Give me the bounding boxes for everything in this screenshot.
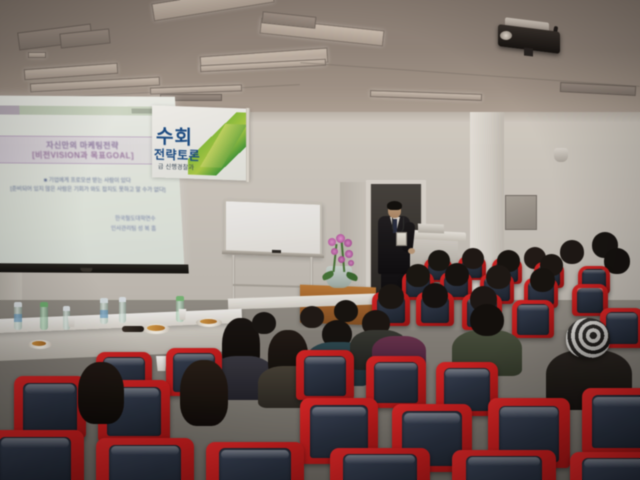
food-item-dark (122, 326, 144, 332)
seat-highlight (111, 446, 180, 456)
seat-highlight (25, 384, 75, 394)
presenter-hair (387, 201, 402, 210)
striped-beanie (566, 318, 610, 358)
banner-chevron-logo-inner (192, 123, 250, 169)
slide-body-line2: [준비되어 있지 않은 사람은 기회가 와도 잡지도 못하고 알 수가 없다] (1, 184, 174, 193)
ceiling-light-panel (24, 63, 119, 81)
audience-head (445, 263, 469, 286)
event-banner: 수회 전략토론 급 신행경찰과 (152, 105, 250, 180)
screen-bottom-bar (0, 263, 189, 273)
bottle-cap (176, 296, 184, 301)
audience-head (470, 304, 504, 336)
orchid-bloom (348, 260, 354, 266)
seat-highlight (583, 270, 605, 274)
audience-head (406, 264, 430, 287)
seat-highlight (468, 457, 541, 466)
bottle-cap (119, 297, 126, 302)
seat[interactable] (330, 448, 430, 480)
orchid-plant (330, 240, 350, 270)
slide-header-tab (0, 105, 20, 114)
seat-highlight (584, 459, 640, 468)
audience-long-hair (180, 360, 228, 426)
screen-weight-bar-hook (80, 268, 92, 272)
seat[interactable] (0, 430, 84, 480)
orchid-bloom (331, 248, 338, 255)
bottle-label (100, 310, 108, 318)
seat[interactable] (96, 438, 194, 480)
seat[interactable] (452, 450, 556, 480)
seat-highlight (312, 407, 367, 418)
banner-caption-text: 급 신행경찰과 (158, 161, 194, 171)
lecture-hall-photo: 자신만의 마케팅전략 [비전VISION과 목표GOAL] ■ 기업에게 프로모… (0, 0, 640, 480)
whiteboard-marker[interactable] (272, 250, 281, 253)
seat[interactable] (512, 300, 554, 338)
audience-head (530, 268, 555, 292)
presenter-lanyard (392, 217, 404, 233)
seat-highlight (445, 369, 488, 378)
food-item (32, 341, 46, 346)
seat-highlight (518, 305, 547, 311)
lectern-laptop (418, 224, 444, 234)
audience-head (252, 312, 276, 334)
food-item (147, 325, 165, 331)
seat[interactable] (14, 376, 86, 438)
projector-lens (500, 31, 512, 40)
beanie-shading (566, 318, 610, 358)
audience-head (378, 284, 404, 309)
presenter-name-badge (396, 232, 407, 246)
banner-pole (246, 108, 250, 182)
orchid-bloom (344, 239, 352, 247)
bottle-cap (63, 306, 70, 311)
slide-title-line2: [비전VISION과 목표GOAL] (2, 149, 165, 161)
audience-long-hair (78, 362, 124, 424)
orchid-bloom (328, 238, 336, 246)
seat-highlight (221, 450, 290, 459)
seat-highlight (593, 397, 640, 408)
ceiling-light-panel (28, 52, 46, 58)
audience-head (560, 240, 584, 264)
water-bottle (40, 306, 48, 330)
slide-attribution-line1: 한국철도대학연수 (65, 214, 156, 223)
seat-highlight (404, 413, 460, 424)
bottle-cap (100, 298, 108, 303)
presenter-hand (408, 248, 415, 254)
seat-highlight (500, 407, 557, 418)
slide-attribution-line2: 인사관리팀 성 복 흠 (66, 224, 157, 233)
seat[interactable] (296, 350, 354, 400)
audience-head (334, 300, 358, 322)
audience-head (422, 283, 448, 308)
seat[interactable] (206, 442, 304, 480)
seat-highlight (305, 357, 346, 365)
bottle-cap (40, 302, 48, 307)
seat-highlight (375, 363, 417, 371)
bottle-label (14, 314, 22, 322)
seat-highlight (607, 313, 638, 319)
seat[interactable] (582, 388, 640, 454)
seat-highlight (345, 455, 415, 464)
orchid-bloom (338, 256, 345, 263)
bottle-cap (14, 302, 22, 307)
seat-highlight (577, 288, 602, 293)
orchid-bloom (345, 250, 353, 258)
water-bottle (119, 301, 126, 323)
food-item (200, 319, 217, 324)
ceiling-light-panel (151, 0, 274, 21)
seat-highlight (1, 438, 70, 448)
wall-control-panel[interactable] (505, 195, 537, 230)
slide-body-line1: ■ 기업에게 프로모션 받는 사람이 있다 (1, 175, 174, 184)
seat[interactable] (570, 452, 640, 480)
ceiling-speaker (554, 148, 568, 162)
projector-bracket (524, 47, 533, 56)
ceiling-light-panel (30, 77, 160, 93)
audience-head (300, 306, 324, 328)
audience-head (486, 265, 511, 289)
ceiling-light-panel (370, 90, 482, 101)
